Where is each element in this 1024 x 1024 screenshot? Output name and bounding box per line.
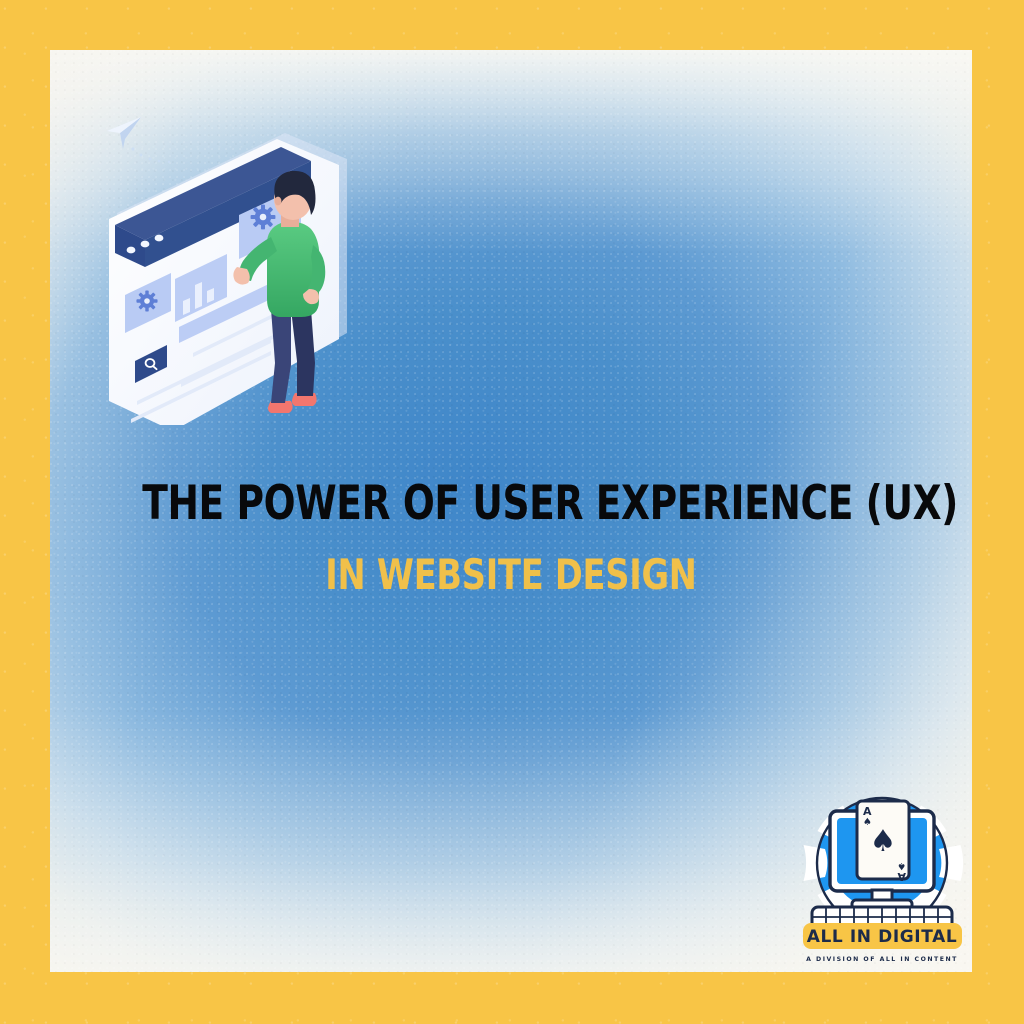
headline-block: THE POWER OF USER EXPERIENCE (UX) IN WEB… xyxy=(50,480,972,597)
brand-logo: A ♠ ♠ A ♠ xyxy=(790,785,972,970)
brand-name: ALL IN DIGITAL xyxy=(807,927,958,947)
poster-canvas: THE POWER OF USER EXPERIENCE (UX) IN WEB… xyxy=(50,50,972,972)
plane-trail xyxy=(131,147,170,163)
playing-card-ace-of-spades: A ♠ ♠ A ♠ xyxy=(857,801,909,883)
gear-icon xyxy=(136,290,157,311)
card-suit-center: ♠ xyxy=(870,824,897,859)
gear-icon xyxy=(251,205,276,230)
hero-illustration xyxy=(95,95,395,425)
ear xyxy=(275,197,282,206)
brand-tagline: A DIVISION OF ALL IN CONTENT xyxy=(806,956,958,963)
paper-plane-icon xyxy=(107,117,141,149)
brand-banner: ALL IN DIGITAL xyxy=(803,923,962,949)
page-subtitle: IN WEBSITE DESIGN xyxy=(142,554,880,597)
poster-root: THE POWER OF USER EXPERIENCE (UX) IN WEB… xyxy=(0,0,1024,1024)
page-title: THE POWER OF USER EXPERIENCE (UX) xyxy=(142,480,880,528)
card-suit-bottom: ♠ xyxy=(897,860,906,871)
